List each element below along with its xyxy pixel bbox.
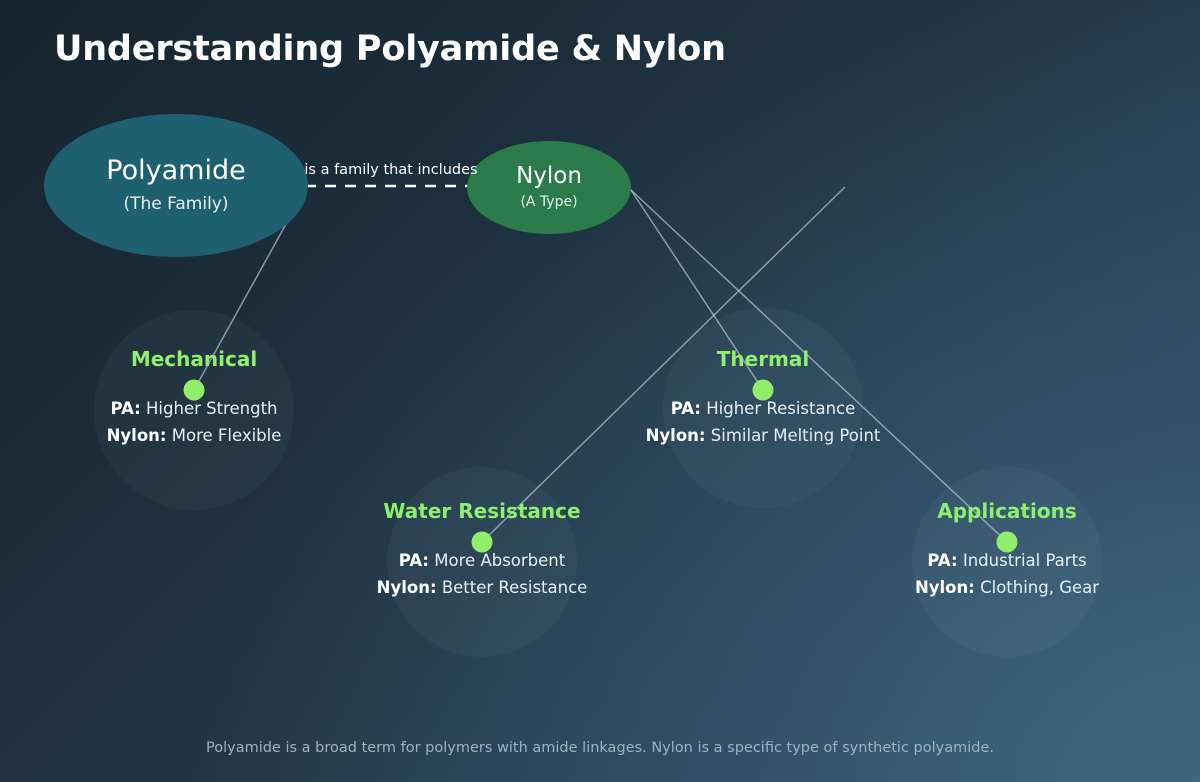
cluster-thermal-label: Thermal bbox=[717, 347, 810, 371]
comparison-value: Industrial Parts bbox=[963, 551, 1087, 570]
node-polyamide-subtitle: (The Family) bbox=[124, 194, 229, 214]
comparison-row: PA: Higher Resistance bbox=[646, 395, 881, 422]
comparison-key: Nylon: bbox=[107, 426, 167, 445]
comparison-row: Nylon: Similar Melting Point bbox=[646, 422, 881, 449]
diagram-canvas: Understanding Polyamide & Nylon Polyamid… bbox=[0, 0, 1200, 782]
comparison-row: Nylon: Clothing, Gear bbox=[915, 574, 1099, 601]
comparison-row: PA: More Absorbent bbox=[377, 547, 588, 574]
cluster-thermal-rows: PA: Higher Resistance Nylon: Similar Mel… bbox=[646, 395, 881, 450]
comparison-key: Nylon: bbox=[646, 426, 706, 445]
cluster-mechanical-rows: PA: Higher Strength Nylon: More Flexible bbox=[107, 395, 282, 450]
comparison-value: Similar Melting Point bbox=[711, 426, 881, 445]
comparison-value: More Flexible bbox=[172, 426, 282, 445]
comparison-value: More Absorbent bbox=[434, 551, 565, 570]
comparison-value: Better Resistance bbox=[442, 578, 588, 597]
comparison-row: PA: Higher Strength bbox=[107, 395, 282, 422]
cluster-applications-label: Applications bbox=[937, 499, 1076, 523]
node-nylon[interactable]: Nylon (A Type) bbox=[467, 141, 631, 234]
cluster-mechanical-label: Mechanical bbox=[131, 347, 257, 371]
comparison-value: Higher Strength bbox=[146, 399, 277, 418]
comparison-row: PA: Industrial Parts bbox=[915, 547, 1099, 574]
comparison-value: Higher Resistance bbox=[706, 399, 855, 418]
comparison-key: PA: bbox=[671, 399, 701, 418]
comparison-key: Nylon: bbox=[377, 578, 437, 597]
comparison-row: Nylon: Better Resistance bbox=[377, 574, 588, 601]
comparison-key: Nylon: bbox=[915, 578, 975, 597]
node-nylon-title: Nylon bbox=[516, 164, 582, 188]
edge-label: is a family that includes bbox=[301, 162, 481, 178]
comparison-key: PA: bbox=[399, 551, 429, 570]
cluster-applications-rows: PA: Industrial Parts Nylon: Clothing, Ge… bbox=[915, 547, 1099, 602]
cluster-water-resistance-rows: PA: More Absorbent Nylon: Better Resista… bbox=[377, 547, 588, 602]
comparison-row: Nylon: More Flexible bbox=[107, 422, 282, 449]
comparison-value: Clothing, Gear bbox=[980, 578, 1099, 597]
comparison-key: PA: bbox=[111, 399, 141, 418]
node-nylon-subtitle: (A Type) bbox=[520, 194, 577, 211]
footer-caption: Polyamide is a broad term for polymers w… bbox=[0, 740, 1200, 756]
node-polyamide[interactable]: Polyamide (The Family) bbox=[44, 114, 308, 257]
comparison-key: PA: bbox=[927, 551, 957, 570]
node-polyamide-title: Polyamide bbox=[106, 157, 245, 186]
cluster-water-resistance-label: Water Resistance bbox=[383, 499, 580, 523]
